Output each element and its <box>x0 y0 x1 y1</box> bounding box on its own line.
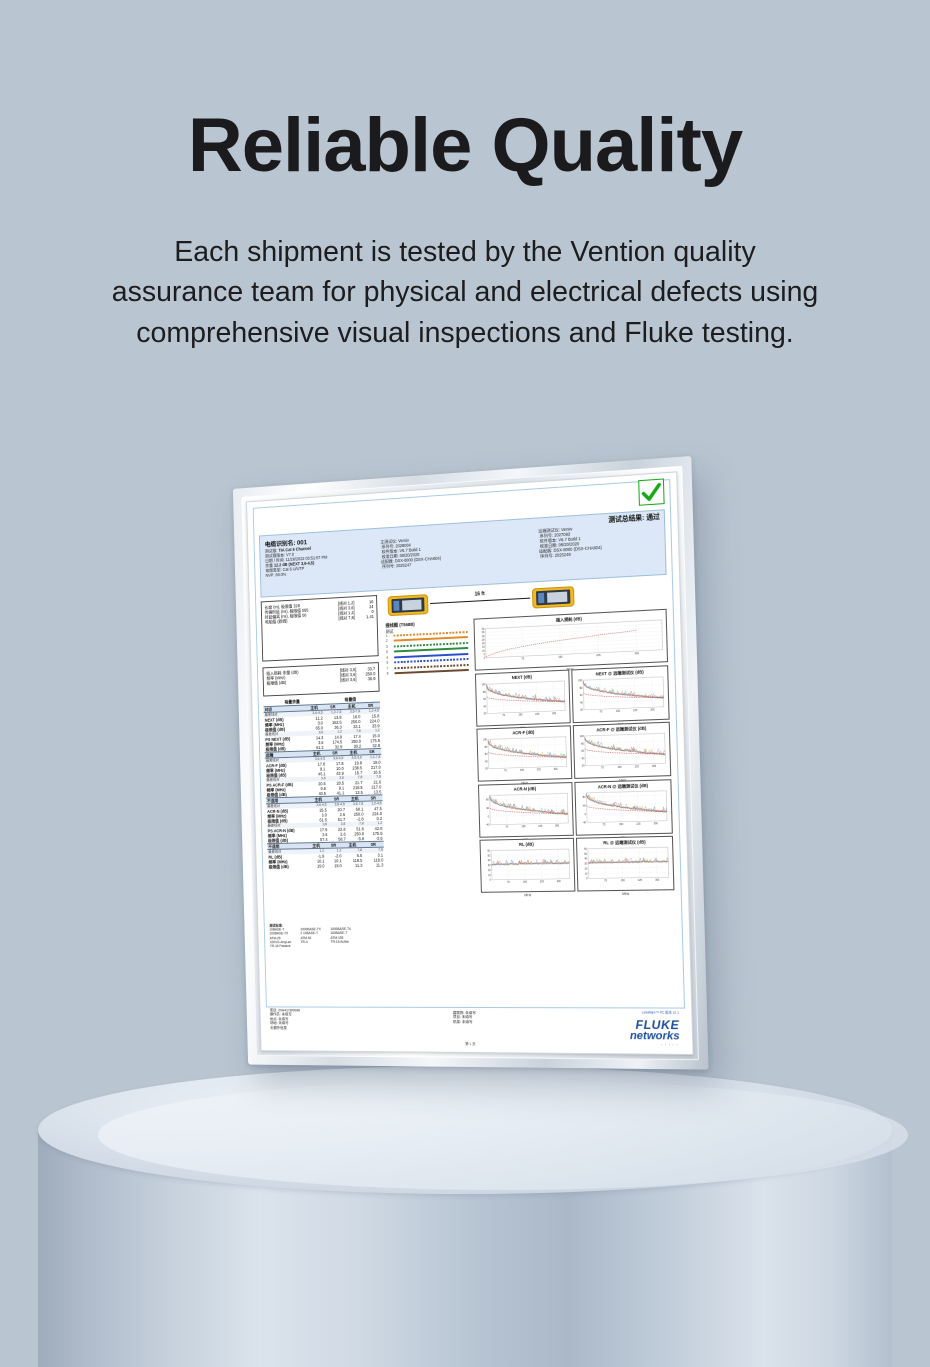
hero-subtitle-line-3: comprehensive visual inspections and Flu… <box>25 313 905 353</box>
svg-text:225: 225 <box>596 654 601 657</box>
svg-text:300: 300 <box>552 712 557 715</box>
chart-8: RL @ 远端测试仪 (dB)010203040506075150225300M… <box>576 836 674 892</box>
wiremap-pin-number: 6 <box>386 650 388 654</box>
chart-plot: 2040608010075150225300 <box>576 730 668 775</box>
chart-plot: 2040608010075150225300 <box>575 673 667 718</box>
standard-item: TR-16 Passive <box>270 944 292 948</box>
svg-text:-40: -40 <box>486 823 490 826</box>
svg-text:225: 225 <box>636 822 641 825</box>
chart-4: ACR-F @ 远端测试仪 (dB)2040608010075150225300… <box>573 722 671 779</box>
svg-text:225: 225 <box>537 768 542 771</box>
certificate-stage: 测试总结果: 通过 电缆识别名: 001 测试限: TIA Cat 6 Chan… <box>236 472 742 1094</box>
svg-text:75: 75 <box>502 714 505 717</box>
svg-text:75: 75 <box>603 823 607 826</box>
chart-row: RL (dB)010203040506075150225300MHzRL @ 远… <box>479 836 674 896</box>
svg-text:30: 30 <box>488 864 491 867</box>
svg-text:20: 20 <box>485 768 488 771</box>
svg-text:40: 40 <box>485 760 488 763</box>
header-left-column: 电缆识别名: 001 测试限: TIA Cat 6 Channel 测试限版本:… <box>265 533 374 578</box>
metric-value: 19.0 <box>325 863 342 868</box>
svg-text:150: 150 <box>520 769 525 772</box>
chart-0: 插入损耗 (dB)051015202530354075150225300MHz <box>473 609 668 671</box>
chart-5: ACR-N (dB)-400408075150225300MHz <box>478 782 574 838</box>
pass-check-icon <box>638 478 664 505</box>
svg-text:60: 60 <box>485 753 488 756</box>
svg-text:150: 150 <box>618 766 623 769</box>
summary-row-pair: [线对 3,6] <box>332 677 357 683</box>
insertion-loss-box: 插入损耗 余量 (dB)[线对 3,6]33.7频率 (MHz)[线对 3,6]… <box>262 662 379 696</box>
svg-text:300: 300 <box>655 879 660 882</box>
test-report-sheet: 测试总结果: 通过 电缆识别名: 001 测试限: TIA Cat 6 Chan… <box>246 471 694 1055</box>
svg-text:60: 60 <box>487 849 490 852</box>
chart-row: ACR-N (dB)-400408075150225300MHzACR-N @ … <box>478 779 673 840</box>
chart-7: RL (dB)010203040506075150225300MHz <box>479 838 575 893</box>
header-main-tester: 主测试仪: Versiv 序列号: 2028004 软件版本: V6.7 Bui… <box>380 533 482 570</box>
chart-3: ACR-F (dB)2040608010075150225300MHz <box>476 725 572 781</box>
chart-plot: 010203040506075150225300 <box>579 844 671 887</box>
podium <box>0 1060 930 1367</box>
svg-text:60: 60 <box>580 693 583 696</box>
footer-mid-block: 建筑物: 未填写项目: 未填写机架: 未填写 <box>453 1011 476 1024</box>
svg-text:225: 225 <box>535 712 540 715</box>
svg-text:20: 20 <box>488 869 491 872</box>
picture-frame: 测试总结果: 通过 电缆识别名: 001 测试限: TIA Cat 6 Chan… <box>233 456 709 1070</box>
svg-text:10: 10 <box>585 872 588 875</box>
svg-text:150: 150 <box>523 881 528 884</box>
svg-text:150: 150 <box>558 656 563 659</box>
svg-text:80: 80 <box>581 742 584 745</box>
svg-text:20: 20 <box>482 642 485 645</box>
svg-text:80: 80 <box>483 690 486 693</box>
svg-text:75: 75 <box>504 769 507 772</box>
svg-text:0: 0 <box>484 657 486 660</box>
summary-box: 长度 (m), 极限值 328[线对 1,2]16传输时延 (ns), 极限值 … <box>261 595 379 662</box>
svg-text:60: 60 <box>582 750 585 753</box>
chart-row: NEXT (dB)2040608010075150225300MHzNEXT @… <box>475 665 670 729</box>
svg-text:150: 150 <box>616 709 621 712</box>
measurement-tables: 裕量余量裕量值对应主机SR主机SR最差线对3,6-4,51,2-7,83,6-7… <box>263 696 384 870</box>
svg-text:0: 0 <box>490 879 492 882</box>
chart-plot: -400408075150225300 <box>481 790 570 833</box>
wiremap-conductor-line <box>394 669 469 674</box>
svg-text:40: 40 <box>585 858 588 861</box>
svg-text:10: 10 <box>482 649 485 652</box>
svg-text:-40: -40 <box>583 821 587 824</box>
networks-wordmark: networks <box>630 1031 680 1043</box>
fluke-networks-logo: FLUKE networks ····· <box>615 1020 680 1049</box>
svg-text:300: 300 <box>555 824 560 827</box>
svg-text:150: 150 <box>619 822 624 825</box>
hero-subtitle-line-2: assurance team for physical and electric… <box>25 272 905 312</box>
svg-text:75: 75 <box>507 881 510 884</box>
wiremap-pin-number: 4 <box>386 656 388 660</box>
svg-text:80: 80 <box>486 798 489 801</box>
metric-label: 极限值 (dB) <box>268 864 308 870</box>
svg-text:60: 60 <box>584 848 587 851</box>
svg-text:100: 100 <box>580 735 585 738</box>
wiremap-pair: 78 <box>387 663 470 678</box>
svg-text:225: 225 <box>538 824 543 827</box>
svg-text:80: 80 <box>583 795 586 798</box>
wiremap-pin-number: 5 <box>386 661 388 665</box>
svg-text:300: 300 <box>635 652 640 655</box>
svg-text:100: 100 <box>483 738 488 741</box>
svg-text:20: 20 <box>580 708 583 711</box>
svg-text:40: 40 <box>580 701 583 704</box>
svg-text:150: 150 <box>621 879 626 882</box>
svg-text:225: 225 <box>633 709 638 712</box>
report-footer: 项目: 20A4178/0096操作员: 未填写地点: 未填写场地: 未填写无额… <box>266 1006 686 1048</box>
hero-subtitle-line-1: Each shipment is tested by the Vention q… <box>25 232 905 272</box>
svg-text:75: 75 <box>601 766 605 769</box>
hero-subtitle: Each shipment is tested by the Vention q… <box>25 184 905 353</box>
svg-text:300: 300 <box>557 880 562 883</box>
chart-1: NEXT (dB)2040608010075150225300MHz <box>475 669 571 726</box>
metric-value: 11.3 <box>343 863 364 868</box>
standards-column: 1000BASE-TX2 10BASE-TATM-51TR-4 <box>300 927 321 948</box>
standards-column: 1000BASE-T4100BASE-TATM-155TR-16 Active <box>330 927 351 948</box>
chart-plot: 051015202530354075150225300 <box>477 617 665 666</box>
wiremap-pin-number: 8 <box>387 672 389 676</box>
svg-text:25: 25 <box>482 639 485 642</box>
svg-text:50: 50 <box>488 854 491 857</box>
standards-columns: 10BASE-T100BASE-TXATM-25100VG-AnyLanTR-1… <box>269 927 421 949</box>
measurement-table: 不适用主机SR主机SR最差线对1,21,27,87,8RL (dB)-1.9-2… <box>267 841 384 870</box>
footer-left-block: 项目: 20A4178/0096操作员: 未填写地点: 未填写场地: 未填写无额… <box>270 1008 301 1030</box>
svg-text:75: 75 <box>505 825 508 828</box>
svg-text:75: 75 <box>521 657 524 660</box>
svg-text:225: 225 <box>540 880 545 883</box>
chart-6: ACR-N @ 远端测试仪 (dB)-400408075150225300MHz <box>575 779 673 835</box>
wiremap-diagram: 接线图 (T568B) 测试 12364578 <box>385 619 470 681</box>
svg-text:300: 300 <box>553 768 558 771</box>
podium-top-highlight <box>98 1080 908 1190</box>
svg-text:0: 0 <box>585 812 587 815</box>
svg-text:80: 80 <box>580 686 583 689</box>
measurement-table: 不适用主机SR主机SR最差线对3,6-4,53,6-4,53,6-7,81,2-… <box>266 794 384 843</box>
footer-mid-line: 机架: 未填写 <box>453 1020 476 1025</box>
standards-column: 10BASE-T100BASE-TXATM-25100VG-AnyLanTR-1… <box>269 928 291 949</box>
standard-item: TR-16 Active <box>331 940 352 944</box>
chart-plot: -400408075150225300 <box>578 787 670 831</box>
svg-text:20: 20 <box>585 867 588 870</box>
standard-item: TR-4 <box>301 940 322 944</box>
svg-text:300: 300 <box>651 708 656 711</box>
svg-text:50: 50 <box>584 853 587 856</box>
svg-text:40: 40 <box>488 859 491 862</box>
svg-text:5: 5 <box>484 653 486 656</box>
svg-text:15: 15 <box>482 646 485 649</box>
svg-text:100: 100 <box>482 683 487 686</box>
svg-text:0: 0 <box>488 815 490 818</box>
svg-text:300: 300 <box>652 765 657 768</box>
svg-text:60: 60 <box>483 697 486 700</box>
metric-value: 11.3 <box>363 862 384 867</box>
svg-text:20: 20 <box>484 712 487 715</box>
metric-value: 19.0 <box>308 863 326 868</box>
svg-text:225: 225 <box>638 879 643 882</box>
svg-text:40: 40 <box>481 628 484 631</box>
summary-row-value: 1.41 <box>355 614 374 620</box>
wiremap-conductor-line <box>394 658 469 663</box>
wiremap-pin-number: 3 <box>386 645 388 649</box>
chart-row: ACR-F (dB)2040608010075150225300MHzACR-F… <box>476 722 671 784</box>
standards-list: 测试标准:10BASE-T100BASE-TXATM-25100VG-AnyLa… <box>269 922 421 948</box>
svg-text:40: 40 <box>486 806 489 809</box>
svg-text:40: 40 <box>483 705 486 708</box>
svg-text:35: 35 <box>482 631 485 634</box>
logo-dots: ····· <box>632 1042 680 1049</box>
wiremap-pin-number: 2 <box>386 639 388 643</box>
summary-row-pair: [线对 7,8] <box>330 615 355 621</box>
svg-text:150: 150 <box>521 825 526 828</box>
measurement-table: 远端主机SR主机SR最差线对3,6-4,53,6-4,54,5-3,61,2-7… <box>265 748 383 798</box>
svg-text:10: 10 <box>488 874 491 877</box>
measurement-table: 对应主机SR主机SR最差线对3,6-4,51,2-7,83,6-7,81,2-4… <box>263 702 381 752</box>
charts-panel: 插入损耗 (dB)051015202530354075150225300MHz … <box>473 609 674 896</box>
page-title: Reliable Quality <box>0 0 930 184</box>
linkware-version: LinkWare™ PC 版本 11.1 <box>642 1009 679 1014</box>
wiremap-pin-number: 1 <box>386 634 388 638</box>
chart-plot: 010203040506075150225300 <box>483 846 572 889</box>
hero-section: Reliable Quality Each shipment is tested… <box>0 0 930 353</box>
chart-plot: 2040608010075150225300 <box>480 733 569 777</box>
chart-plot: 2040608010075150225300 <box>478 677 567 722</box>
summary-row-value: 36.9 <box>356 676 375 682</box>
svg-text:75: 75 <box>604 879 608 882</box>
svg-text:20: 20 <box>582 765 585 768</box>
svg-text:150: 150 <box>518 713 523 716</box>
wiremap-pin-number: 7 <box>387 667 389 671</box>
svg-text:100: 100 <box>578 679 583 682</box>
footer-left-line: 无额外信息 <box>270 1026 300 1030</box>
header-remote-tester: 远端测试仪: Versiv 序列号: 2027093 软件版本: V6.7 Bu… <box>538 521 661 560</box>
svg-text:30: 30 <box>585 863 588 866</box>
svg-text:40: 40 <box>583 804 586 807</box>
svg-text:75: 75 <box>600 710 604 713</box>
chart-2: NEXT @ 远端测试仪 (dB)2040608010075150225300M… <box>571 665 669 723</box>
svg-text:30: 30 <box>482 635 485 638</box>
remote-tester-device-icon <box>532 586 575 608</box>
svg-text:300: 300 <box>654 822 659 825</box>
svg-text:225: 225 <box>635 765 640 768</box>
svg-text:0: 0 <box>587 877 589 880</box>
svg-text:40: 40 <box>582 757 585 760</box>
svg-text:80: 80 <box>485 746 488 749</box>
